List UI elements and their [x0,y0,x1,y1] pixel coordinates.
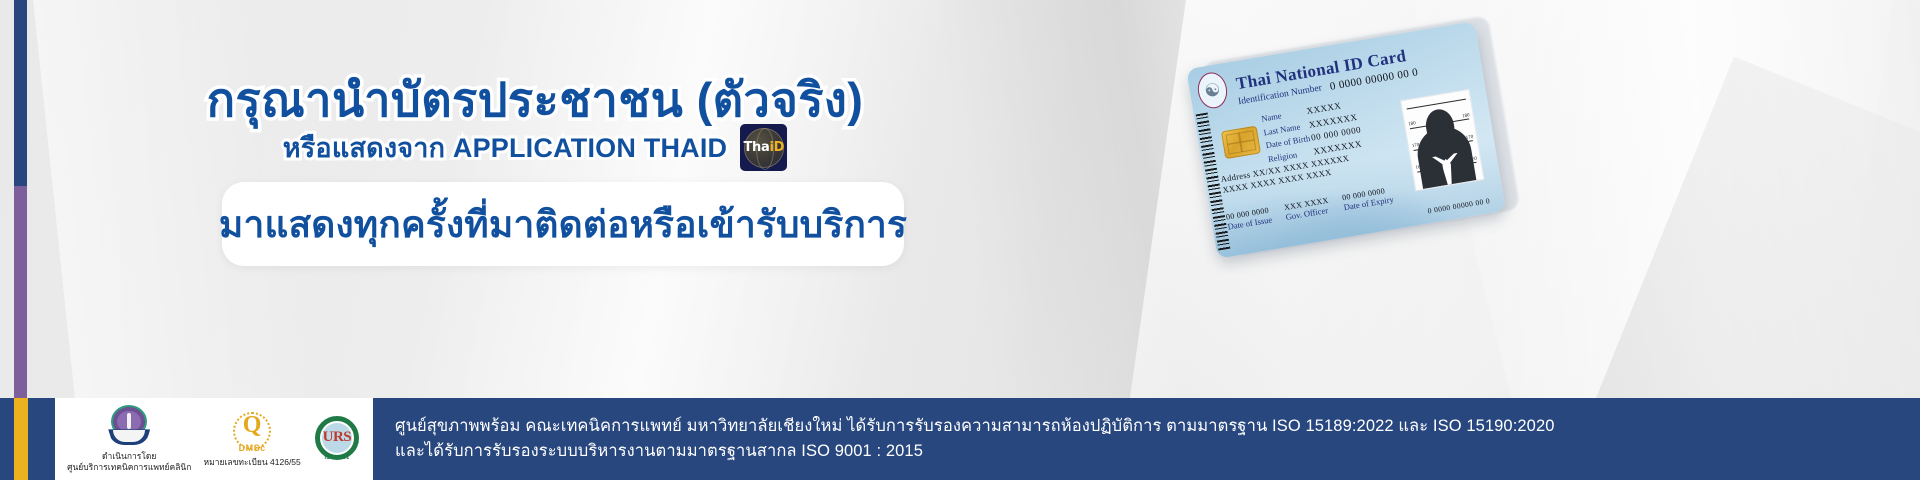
logo-urs-text: URS [313,429,361,446]
subline: หรือแสดงจาก APPLICATION THAID [283,126,728,169]
footer-bar: ดำเนินการโดย ศูนย์บริการเทคนิคการแพทย์คล… [0,398,1920,480]
card-portrait-photo: 180 180 170 170 160 160 [1400,89,1484,191]
garuda-emblem-icon: ☯ [1195,70,1230,110]
logo-iso-text: ISO 9001 [313,455,361,461]
footer-accent-navy-right [28,398,55,480]
footer-accent-gold [14,398,28,480]
footer-text-line1: ศูนย์สุขภาพพร้อม คณะเทคนิคการแพทย์ มหาวิ… [395,414,1920,439]
portrait-scale-line [1407,99,1466,110]
footer-logo-caption: ดำเนินการโดย ศูนย์บริการเทคนิคการแพทย์คล… [67,451,191,472]
footer-logo-amtc: ดำเนินการโดย ศูนย์บริการเทคนิคการแพทย์คล… [67,405,191,472]
logo-letter-q: Q [229,411,275,441]
card-serial-number: 0 0000 00000 00 0 [1427,196,1491,215]
footer-text-panel: ศูนย์สุขภาพพร้อม คณะเทคนิคการแพทย์ มหาวิ… [373,398,1920,480]
callout-pill: มาแสดงทุกครั้งที่มาติดต่อหรือเข้ารับบริก… [222,182,904,266]
callout-pill-text: มาแสดงทุกครั้งที่มาติดต่อหรือเข้ารับบริก… [219,195,907,254]
dmsc-quality-logo-icon: Q DMSc [229,411,275,455]
logo-figure [127,413,131,429]
footer-logo-urs: URS ISO 9001 [313,416,361,462]
footer-text-line2: และได้รับการรับรองระบบบริหารงานตามมาตรฐา… [395,439,1920,464]
smartcard-chip-icon [1221,126,1261,160]
card-issue-block: 00 000 0000 Date of Issue [1225,206,1272,232]
banner-root: กรุณานำบัตรประชาชน (ตัวจริง) หรือแสดงจาก… [0,0,1920,480]
thaid-wordmark: ThaiD [743,141,784,154]
footer-logo-caption-line1: ดำเนินการโดย [67,451,191,462]
footer-accent-navy-left [0,398,14,480]
footer-logo-panel: ดำเนินการโดย ศูนย์บริการเทคนิคการแพทย์คล… [55,398,373,480]
urs-iso-logo-icon: URS ISO 9001 [313,416,361,462]
thaid-text-accent: iD [769,140,784,155]
hero-section: กรุณานำบัตรประชาชน (ตัวจริง) หรือแสดงจาก… [0,0,1100,398]
thaid-app-icon: ThaiD [740,124,787,171]
thai-id-card-illustration: ☯ Thai National ID Card Identification N… [1178,18,1498,290]
footer-logo-caption-line1: หมายเลขทะเบียน 4126/55 [204,457,301,468]
thaid-text-primary: Tha [743,140,769,155]
logo-dmsc-text: DMSc [229,443,275,453]
footer-logo-dmsc: Q DMSc หมายเลขทะเบียน 4126/55 [204,411,301,468]
card-officer-block: XXX XXXX Gov. Officer [1283,196,1330,222]
footer-logo-caption: หมายเลขทะเบียน 4126/55 [204,457,301,468]
amtc-clinic-logo-icon [106,405,152,449]
footer-logo-caption-line2: ศูนย์บริการเทคนิคการแพทย์คลินิก [67,462,191,473]
subline-row: หรือแสดงจาก APPLICATION THAID ThaiD [0,124,1070,171]
card-expiry-block: 00 000 0000 Date of Expiry [1341,185,1394,212]
